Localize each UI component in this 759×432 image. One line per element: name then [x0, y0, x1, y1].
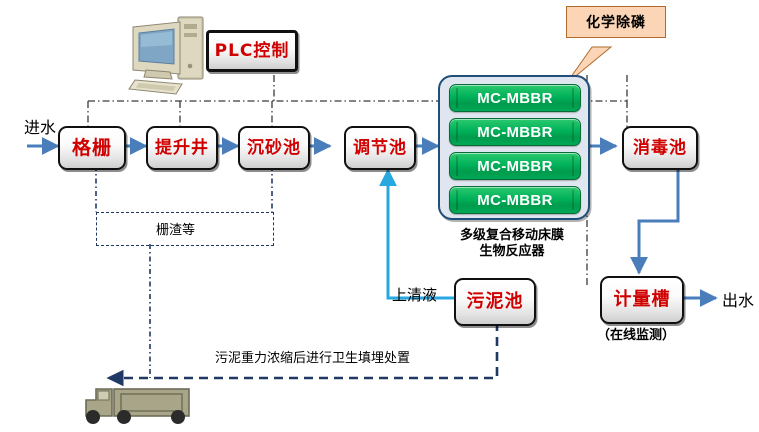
mbbr-stage-2-label: MC-MBBR [477, 124, 552, 141]
reactor-caption-line2: 生物反应器 [432, 244, 592, 260]
residue-label: 栅渣等 [156, 219, 195, 238]
plc-control-box[interactable]: PLC控制 [206, 30, 298, 72]
process-box-grate-label: 格栅 [72, 139, 112, 158]
process-box-equalization-tank-label: 调节池 [353, 140, 407, 157]
process-box-disinfection-tank[interactable]: 消毒池 [622, 126, 698, 170]
process-box-grate[interactable]: 格栅 [58, 126, 126, 170]
plc-signal-branch-right [587, 75, 627, 285]
process-box-lift-well-label: 提升井 [155, 140, 209, 157]
process-box-disinfection-tank-label: 消毒池 [633, 140, 687, 157]
inlet-label: 进水 [24, 114, 56, 138]
process-box-lift-well[interactable]: 提升井 [146, 126, 218, 170]
reactor-caption: 多级复合移动床膜 生物反应器 [432, 228, 592, 261]
chemical-phosphorus-removal-callout[interactable]: 化学除磷 [566, 6, 666, 38]
mbbr-stage-3-label: MC-MBBR [477, 158, 552, 175]
process-box-measuring-flume-label: 计量槽 [614, 291, 671, 309]
mbbr-stage-4-label: MC-MBBR [477, 192, 552, 209]
disinfect-to-flume-line [639, 166, 678, 273]
process-flow-diagram: 格栅 提升井 沉砂池 调节池 消毒池 污泥池 计量槽 PLC控制 MC-MBBR… [0, 0, 759, 432]
reactor-caption-line1: 多级复合移动床膜 [432, 228, 592, 244]
process-box-equalization-tank[interactable]: 调节池 [344, 126, 416, 170]
process-box-sludge-tank-label: 污泥池 [467, 293, 524, 311]
mbbr-stage-1[interactable]: MC-MBBR [449, 84, 581, 112]
supernatant-label: 上清液 [392, 284, 437, 305]
flume-note-label: （在线监测） [597, 324, 675, 343]
mbbr-stage-4[interactable]: MC-MBBR [449, 186, 581, 214]
outlet-label: 出水 [722, 287, 754, 311]
mc-mbbr-reactor[interactable]: MC-MBBR MC-MBBR MC-MBBR MC-MBBR [438, 75, 590, 220]
process-box-sludge-tank[interactable]: 污泥池 [454, 278, 536, 326]
plc-control-label: PLC控制 [215, 43, 290, 60]
process-box-grit-tank-label: 沉砂池 [247, 140, 301, 157]
callout-label: 化学除磷 [586, 12, 646, 32]
truck-icon [86, 389, 189, 424]
mbbr-stage-1-label: MC-MBBR [477, 90, 552, 107]
sludge-disposal-label: 污泥重力浓缩后进行卫生填埋处置 [215, 347, 410, 366]
mbbr-stage-2[interactable]: MC-MBBR [449, 118, 581, 146]
process-box-measuring-flume[interactable]: 计量槽 [600, 276, 684, 324]
process-box-grit-tank[interactable]: 沉砂池 [238, 126, 310, 170]
mbbr-stage-3[interactable]: MC-MBBR [449, 152, 581, 180]
desktop-computer-icon [129, 17, 203, 94]
